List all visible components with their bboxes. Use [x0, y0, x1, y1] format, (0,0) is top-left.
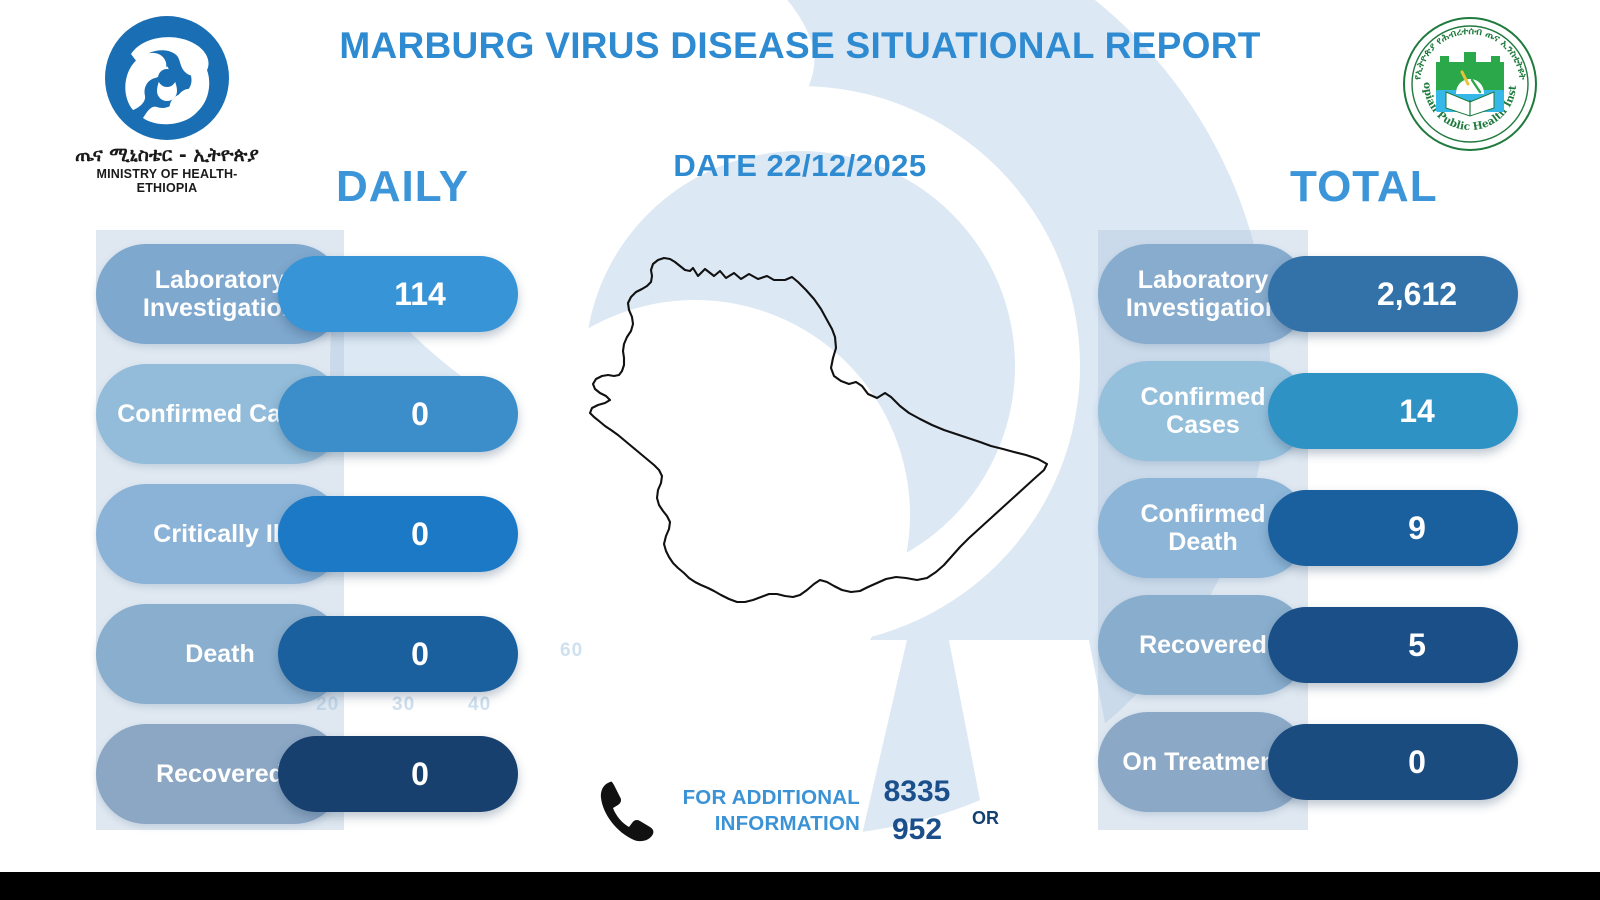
ethiopia-map-outline — [548, 236, 1058, 636]
total-value-text: 2,612 — [1329, 276, 1457, 313]
stat-row: Recovered5 — [1040, 585, 1600, 702]
total-value-text: 5 — [1360, 627, 1426, 664]
daily-column-heading: DAILY — [336, 162, 469, 212]
contact-or-label: OR — [972, 808, 999, 829]
daily-label-text: Death — [185, 640, 254, 668]
total-label-text: Laboratory Investigation — [1112, 266, 1294, 322]
daily-value-text: 0 — [367, 396, 429, 433]
moh-logo-english-text: MINISTRY OF HEALTH-ETHIOPIA — [72, 167, 262, 195]
total-column-heading: TOTAL — [1290, 162, 1438, 212]
contact-numbers[interactable]: 8335 952 — [874, 773, 960, 849]
contact-label: FOR ADDITIONAL INFORMATION — [664, 785, 860, 837]
total-label-text: Confirmed Cases — [1112, 383, 1294, 439]
stat-row: Recovered0 — [0, 714, 560, 834]
contact-number-8335[interactable]: 8335 — [874, 773, 960, 811]
daily-value-pill: 0 — [278, 616, 518, 692]
page-title: MARBURG VIRUS DISEASE SITUATIONAL REPORT — [330, 22, 1270, 70]
stat-row: On Treatment0 — [1040, 702, 1600, 819]
daily-value-text: 0 — [367, 756, 429, 793]
daily-label-text: Critically Ill — [153, 520, 286, 548]
stat-row: Death0 — [0, 594, 560, 714]
total-value-pill: 14 — [1268, 373, 1518, 449]
ministry-of-health-logo: ጤና ሚኒስቴር - ኢትዮጵያ MINISTRY OF HEALTH-ETHI… — [72, 14, 262, 184]
stat-row: Confirmed Cases0 — [0, 354, 560, 474]
daily-value-pill: 0 — [278, 736, 518, 812]
infographic-page: 60 20 30 40 50 ጤና ሚኒስቴር - ኢትዮጵያ MINISTRY… — [0, 0, 1600, 900]
contact-label-line1: FOR ADDITIONAL — [664, 785, 860, 811]
total-value-pill: 0 — [1268, 724, 1518, 800]
total-value-text: 9 — [1360, 510, 1426, 547]
stat-row: Confirmed Cases14 — [1040, 351, 1600, 468]
daily-label-text: Recovered — [156, 760, 284, 788]
contact-info: FOR ADDITIONAL INFORMATION 8335 952 OR — [596, 766, 1116, 856]
total-value-text: 14 — [1351, 393, 1435, 430]
total-value-pill: 2,612 — [1268, 256, 1518, 332]
ephi-logo: የኢትዮጵያ የሕብረተሰብ ጤና ኢንስቲትዩት Ethiopian Publ… — [1402, 16, 1538, 152]
stat-row: Laboratory Investigation114 — [0, 234, 560, 354]
moh-emblem-icon — [103, 14, 231, 142]
total-value-pill: 9 — [1268, 490, 1518, 566]
faint-axis-label-60: 60 — [560, 640, 583, 662]
total-value-text: 0 — [1360, 744, 1426, 781]
daily-stats-column: Laboratory Investigation114Confirmed Cas… — [0, 234, 560, 834]
daily-value-text: 0 — [367, 636, 429, 673]
contact-label-line2: INFORMATION — [664, 811, 860, 837]
stat-row: Confirmed Death9 — [1040, 468, 1600, 585]
total-label-text: Confirmed Death — [1112, 500, 1294, 556]
bottom-black-bar — [0, 872, 1600, 900]
stat-row: Critically Ill0 — [0, 474, 560, 594]
total-label-text: Recovered — [1139, 631, 1267, 659]
daily-value-text: 114 — [350, 276, 446, 313]
phone-icon — [596, 776, 658, 846]
daily-value-pill: 0 — [278, 376, 518, 452]
total-value-pill: 5 — [1268, 607, 1518, 683]
daily-value-pill: 114 — [278, 256, 518, 332]
total-stats-column: Laboratory Investigation2,612Confirmed C… — [1040, 234, 1600, 819]
total-label-text: On Treatment — [1122, 748, 1283, 776]
moh-logo-amharic-text: ጤና ሚኒስቴር - ኢትዮጵያ — [72, 146, 262, 166]
report-date: DATE 22/12/2025 — [330, 148, 1270, 184]
daily-value-pill: 0 — [278, 496, 518, 572]
contact-number-952[interactable]: 952 — [874, 811, 960, 849]
daily-value-text: 0 — [367, 516, 429, 553]
stat-row: Laboratory Investigation2,612 — [1040, 234, 1600, 351]
